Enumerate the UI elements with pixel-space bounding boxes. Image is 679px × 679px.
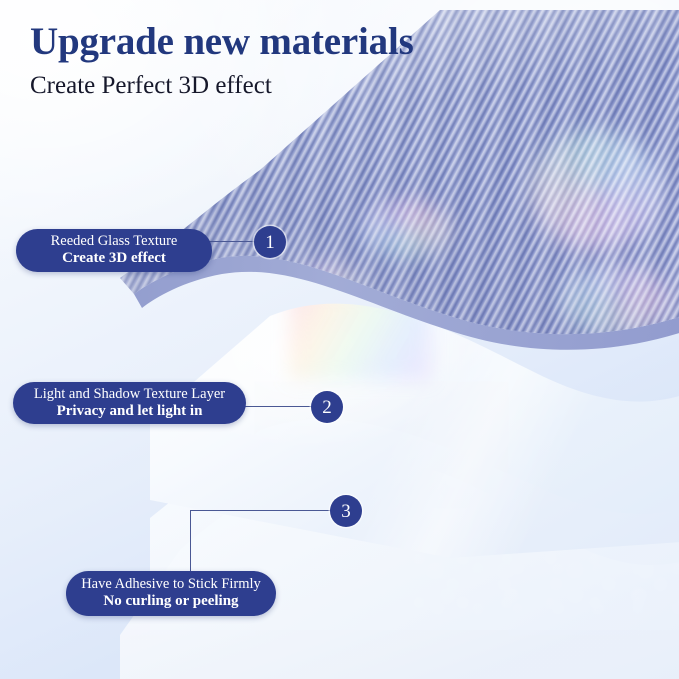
callout-badge-1: 1 [254, 226, 286, 258]
product-infographic: Upgrade new materials Create Perfect 3D … [0, 0, 679, 679]
leader-line-2 [241, 406, 314, 407]
callout-pill-2: Light and Shadow Texture Layer Privacy a… [13, 382, 246, 424]
callout-1-line2: Create 3D effect [16, 250, 212, 268]
callout-pill-3: Have Adhesive to Stick Firmly No curling… [66, 571, 276, 616]
callout-pill-1: Reeded Glass Texture Create 3D effect [16, 229, 212, 272]
page-title: Upgrade new materials [30, 22, 414, 63]
page-subtitle: Create Perfect 3D effect [30, 72, 414, 100]
callout-2-line1: Light and Shadow Texture Layer [13, 386, 246, 403]
leader-line-3-horizontal [190, 510, 333, 511]
callout-badge-2: 2 [311, 391, 343, 423]
callout-badge-3: 3 [330, 495, 362, 527]
leader-line-1 [207, 241, 257, 242]
callout-2-line2: Privacy and let light in [13, 403, 246, 421]
leader-line-3-vertical [190, 510, 191, 572]
callout-3-line1: Have Adhesive to Stick Firmly [66, 576, 276, 593]
callout-3-line2: No curling or peeling [66, 593, 276, 611]
header-block: Upgrade new materials Create Perfect 3D … [30, 22, 414, 99]
callout-1-line1: Reeded Glass Texture [16, 233, 212, 250]
